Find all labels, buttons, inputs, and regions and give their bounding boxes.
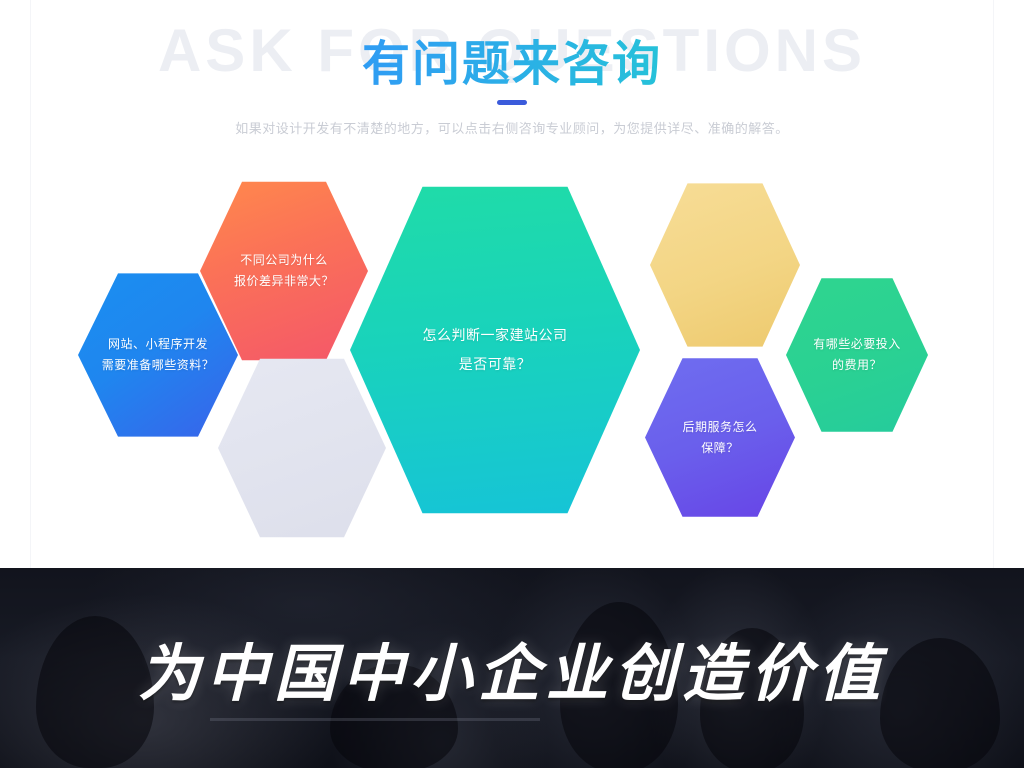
hexagon-label: 怎么判断一家建站公司 是否可靠？ — [413, 321, 578, 380]
section-header: ASK FOR QUESTIONS 有问题来咨询 如果对设计开发有不清楚的地方，… — [0, 0, 1024, 160]
page-subtitle: 如果对设计开发有不清楚的地方，可以点击右侧咨询专业顾问，为您提供详尽、准确的解答… — [0, 118, 1024, 137]
hexagon-label: 后期服务怎么 保障？ — [672, 417, 767, 459]
section-banner: 为中国中小企业创造价值 — [0, 568, 1024, 768]
hexagon-after-sales-service[interactable]: 后期服务怎么 保障？ — [645, 355, 795, 520]
hexagon-label-line1: 不同公司为什么 — [234, 250, 334, 271]
hexagon-cluster: 网站、小程序开发 需要准备哪些资料？ 不同公司为什么 报价差异非常大？ 怎么判断… — [0, 160, 1024, 560]
hexagon-empty-grey[interactable] — [218, 355, 386, 541]
hexagon-label-line2: 报价差异非常大？ — [234, 271, 334, 292]
title-divider-wrap — [0, 92, 1024, 110]
hexagon-label-line1: 怎么判断一家建站公司 — [423, 321, 568, 350]
hexagon-necessary-costs[interactable]: 有哪些必要投入 的费用？ — [786, 275, 928, 435]
title-divider — [497, 100, 527, 105]
page-title: 有问题来咨询 — [0, 24, 1024, 94]
banner-slogan: 为中国中小企业创造价值 — [0, 568, 1024, 768]
hexagon-label: 网站、小程序开发 需要准备哪些资料？ — [92, 334, 225, 376]
hexagon-label: 有哪些必要投入 的费用？ — [803, 334, 911, 376]
hexagon-label-line2: 需要准备哪些资料？ — [102, 355, 215, 376]
hexagon-empty-yellow[interactable] — [650, 180, 800, 350]
hexagon-judge-reliable-company[interactable]: 怎么判断一家建站公司 是否可靠？ — [350, 180, 640, 520]
hexagon-label-line2: 的费用？ — [813, 355, 901, 376]
hexagon-label-line1: 有哪些必要投入 — [813, 334, 901, 355]
hexagon-label: 不同公司为什么 报价差异非常大？ — [224, 250, 344, 292]
page-root: ASK FOR QUESTIONS 有问题来咨询 如果对设计开发有不清楚的地方，… — [0, 0, 1024, 768]
hexagon-label-line1: 后期服务怎么 — [682, 417, 757, 438]
hexagon-label-line2: 保障？ — [682, 438, 757, 459]
hexagon-label-line2: 是否可靠？ — [423, 350, 568, 379]
hexagon-label-line1: 网站、小程序开发 — [102, 334, 215, 355]
